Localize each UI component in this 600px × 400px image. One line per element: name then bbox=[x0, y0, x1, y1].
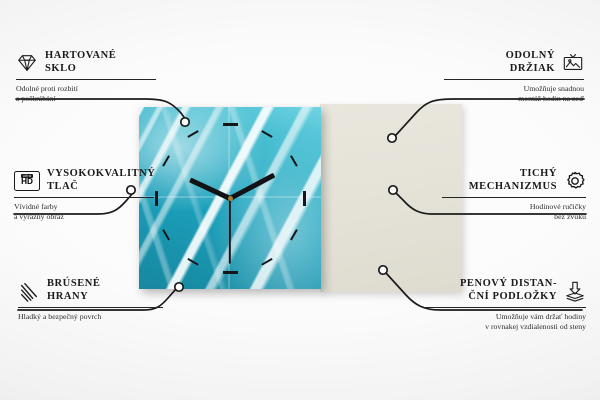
beveled-edges-icon bbox=[18, 280, 40, 302]
feature-title: VYSOKOKVALITNÝ TLAČ bbox=[47, 168, 155, 193]
clock-tick bbox=[303, 191, 306, 206]
feature-callout-beveled-edges: BRÚSENÉ HRANY Hladký a bezpečný povrch bbox=[18, 278, 163, 322]
divider bbox=[424, 307, 586, 308]
feature-title: ODOLNÝ DRŽIAK bbox=[506, 50, 555, 75]
clock-second-hand bbox=[229, 198, 231, 264]
wall-hanger-frame-icon bbox=[562, 52, 584, 74]
product-infographic: HARTOVANÉ SKLO Odolné proti rozbití a po… bbox=[0, 0, 600, 400]
feature-header: ODOLNÝ DRŽIAK bbox=[444, 50, 584, 75]
clock-tick bbox=[223, 123, 238, 126]
divider bbox=[16, 79, 156, 80]
feature-description: Vívidné farby a výrazný obraz bbox=[14, 202, 154, 222]
wall-clock-product bbox=[139, 107, 321, 289]
feature-header: BRÚSENÉ HRANY bbox=[18, 278, 163, 303]
feature-header: HARTOVANÉ SKLO bbox=[16, 50, 156, 75]
divider bbox=[444, 79, 584, 80]
feature-description: Odolné proti rozbití a poškrábání bbox=[16, 84, 156, 104]
feature-header: PENOVÝ DISTAN- ČNÍ PODLOŽKY bbox=[424, 278, 586, 303]
clock-center-pin bbox=[228, 196, 233, 201]
arrow-onto-layers-icon bbox=[564, 280, 586, 302]
clock-tick bbox=[223, 271, 238, 274]
divider bbox=[18, 307, 163, 308]
feature-description: Hladký a bezpečný povrch bbox=[18, 312, 163, 322]
ultra-hd-badge-icon: ultra HD bbox=[14, 171, 40, 191]
divider bbox=[14, 197, 154, 198]
feature-callout-hq-print: ultra HD VYSOKOKVALITNÝ TLAČ Vívidné far… bbox=[14, 168, 154, 222]
accessory-photo-panel bbox=[320, 104, 462, 292]
feature-header: TICHÝ MECHANIZMUS bbox=[442, 168, 586, 193]
feature-callout-foam-spacers: PENOVÝ DISTAN- ČNÍ PODLOŽKY Umožňuje vám… bbox=[424, 278, 586, 332]
gear-icon bbox=[564, 170, 586, 192]
feature-title: PENOVÝ DISTAN- ČNÍ PODLOŽKY bbox=[460, 278, 557, 303]
feature-callout-silent-mechanism: TICHÝ MECHANIZMUS Hodinové ručičky bez z… bbox=[442, 168, 586, 222]
divider bbox=[442, 197, 586, 198]
feature-header: ultra HD VYSOKOKVALITNÝ TLAČ bbox=[14, 168, 154, 193]
feature-description: Umožňuje snadnou montáž hodin na zeď bbox=[444, 84, 584, 104]
feature-title: TICHÝ MECHANIZMUS bbox=[469, 168, 557, 193]
feature-callout-tempered-glass: HARTOVANÉ SKLO Odolné proti rozbití a po… bbox=[16, 50, 156, 104]
feature-description: Hodinové ručičky bez zvuku bbox=[442, 202, 586, 222]
feature-title: BRÚSENÉ HRANY bbox=[47, 278, 100, 303]
feature-title: HARTOVANÉ SKLO bbox=[45, 50, 116, 75]
ultra-hd-badge-main: HD bbox=[21, 178, 33, 187]
feature-callout-durable-hanger: ODOLNÝ DRŽIAK Umožňuje snadnou montáž ho… bbox=[444, 50, 584, 104]
feature-description: Umožňuje vám držať hodiny v rovnakej vzd… bbox=[424, 312, 586, 332]
diamond-icon bbox=[16, 52, 38, 74]
